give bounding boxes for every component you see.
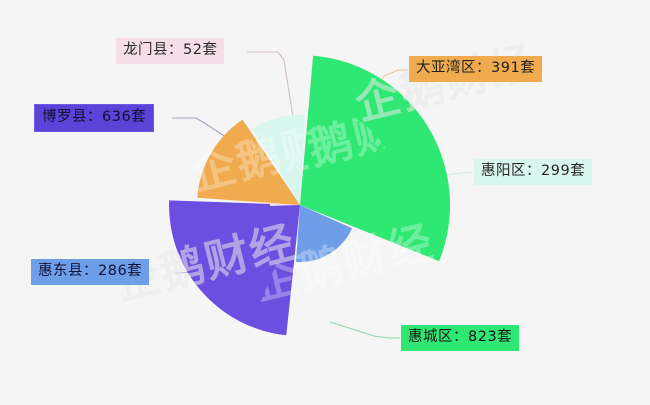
svg-text:企鹅财经: 企鹅财经 (350, 37, 541, 131)
pie-label-boluo-text: 博罗县：636套 (42, 109, 146, 125)
pie-label-huiyang-text: 惠阳区：299套 (481, 163, 585, 179)
pie-label-dayawan-text: 大亚湾区：391套 (416, 60, 535, 76)
pie-label-huiyang[interactable]: 惠阳区：299套 (474, 159, 592, 185)
pie-label-boluo[interactable]: 博罗县：636套 (34, 104, 154, 132)
pie-label-longmen-text: 龙门县：52套 (123, 42, 217, 58)
pie-label-huidong-text: 惠东县：286套 (38, 263, 142, 279)
chart-canvas: 企鹅财经 企鹅财经 企鹅财经 企鹅财经 企鹅财经 龙门县：52套 博罗县：636… (0, 0, 650, 405)
pie-label-longmen[interactable]: 龙门县：52套 (116, 38, 224, 64)
pie-label-huicheng[interactable]: 惠城区：823套 (401, 325, 519, 351)
pie-label-dayawan[interactable]: 大亚湾区：391套 (409, 56, 542, 82)
leader-line-huicheng (330, 322, 400, 338)
pie-chart-svg: 企鹅财经 企鹅财经 企鹅财经 企鹅财经 企鹅财经 (0, 0, 650, 405)
pie-label-huidong[interactable]: 惠东县：286套 (31, 259, 149, 285)
pie-label-huicheng-text: 惠城区：823套 (408, 329, 512, 345)
